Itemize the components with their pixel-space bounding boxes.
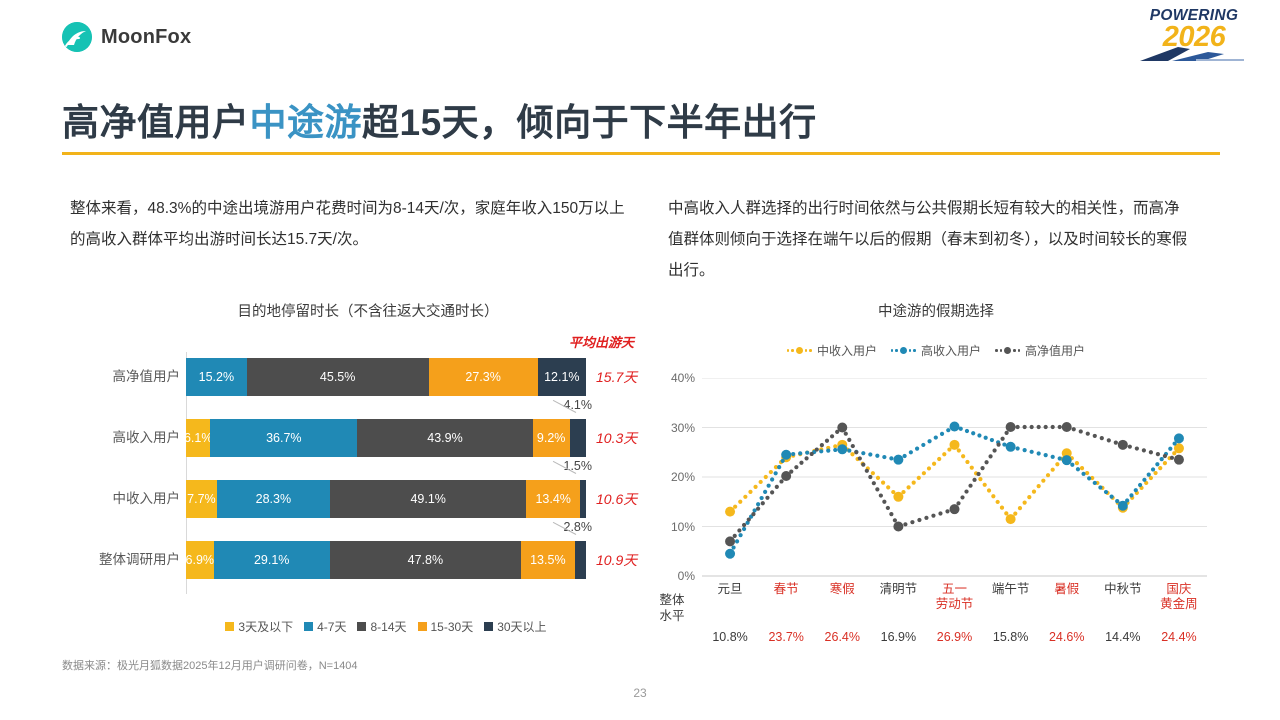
series-dot: [861, 451, 865, 455]
series-marker: [950, 440, 960, 450]
series-dot: [1149, 450, 1153, 454]
stay-duration-chart: 目的地停留时长（不含往返大交通时长） 平均出游天 高净值用户15.2%45.5%…: [58, 300, 638, 650]
series-dot: [774, 471, 778, 475]
series-dot: [882, 500, 886, 504]
series-dot: [903, 454, 907, 458]
series-dot: [886, 485, 890, 489]
series-dot: [1032, 490, 1036, 494]
overall-level-value: 15.8%: [983, 630, 1039, 644]
series-dot: [1080, 466, 1084, 470]
series-dot: [924, 516, 928, 520]
series-dot: [881, 481, 885, 485]
y-axis-tick-label: 40%: [671, 371, 695, 385]
series-dot: [851, 444, 855, 448]
series-dot: [847, 448, 851, 452]
series-dot: [1075, 461, 1079, 465]
legend-dotted-line-icon: [891, 347, 916, 354]
series-dot: [799, 461, 803, 465]
series-dot: [903, 522, 907, 526]
series-dot: [794, 465, 798, 469]
series-dot: [1156, 452, 1160, 456]
series-dot: [968, 484, 972, 488]
bar-segment-callout: 1.5%: [564, 459, 593, 473]
bar-segment: 6.1%: [186, 419, 210, 457]
right-paragraph: 中高收入人群选择的出行时间依然与公共假期长短有较大的相关性，而高净值群体则倾向于…: [668, 193, 1188, 286]
series-dot: [820, 443, 824, 447]
data-source-note: 数据来源：极光月狐数据2025年12月用户调研问卷，N=1404: [62, 657, 358, 673]
series-dot: [760, 496, 764, 500]
overall-level-label: 整体 水平: [648, 592, 696, 624]
series-dot: [1023, 448, 1027, 452]
overall-level-value: 14.4%: [1095, 630, 1151, 644]
series-marker: [893, 455, 903, 465]
series-marker: [781, 450, 791, 460]
bar-segment: [580, 480, 586, 518]
series-dot: [893, 518, 897, 522]
series-dot: [1093, 434, 1097, 438]
series-dot: [767, 484, 771, 488]
powering-2026-badge: POWERING 2026: [1136, 8, 1252, 60]
series-dot: [833, 448, 837, 452]
series-dot: [886, 506, 890, 510]
legend-item-label: 高净值用户: [1025, 342, 1085, 359]
series-dot: [984, 436, 988, 440]
x-axis-tick-label: 五一劳动节: [926, 582, 982, 612]
left-paragraph: 整体来看，48.3%的中途出境游用户花费时间为8-14天/次，家庭年收入150万…: [70, 193, 630, 255]
legend-item[interactable]: 3天及以下: [225, 618, 293, 635]
series-dot: [810, 452, 814, 456]
legend-item[interactable]: 4-7天: [304, 618, 346, 635]
series-dot: [1115, 499, 1119, 503]
series-dot: [1093, 481, 1097, 485]
series-dot: [738, 533, 742, 537]
series-dot: [942, 452, 946, 456]
x-axis-tick-label: 寒假: [814, 582, 870, 612]
legend-swatch-icon: [418, 622, 427, 631]
series-dot: [1030, 450, 1034, 454]
series-dot: [1046, 473, 1050, 477]
x-axis-tick-label: 春节: [758, 582, 814, 612]
series-dot: [759, 480, 763, 484]
series-dot: [819, 449, 823, 453]
series-dot: [1160, 457, 1164, 461]
average-days-value: 10.9天: [596, 541, 637, 579]
bar-segment: 27.3%: [429, 358, 538, 396]
series-dot: [777, 465, 781, 469]
bar-segment: 49.1%: [330, 480, 526, 518]
bar-track: 15.2%45.5%27.3%12.1%: [186, 358, 586, 396]
bar-row: 高收入用户6.1%36.7%43.9%9.2%4.1%10.3天: [186, 419, 586, 457]
series-dot: [927, 466, 931, 470]
holiday-choice-chart-title: 中途游的假期选择: [646, 300, 1226, 321]
series-dot: [927, 439, 931, 443]
legend-item-label: 30天以上: [497, 618, 546, 635]
series-dot: [868, 452, 872, 456]
series-dot: [1081, 472, 1085, 476]
series-dot: [747, 517, 751, 521]
legend-dotted-line-icon: [787, 347, 812, 354]
series-dot: [946, 428, 950, 432]
series-dot: [1076, 467, 1080, 471]
series-dot: [1142, 448, 1146, 452]
series-marker: [1062, 455, 1072, 465]
series-marker: [1006, 442, 1016, 452]
overall-level-value: 24.6%: [1039, 630, 1095, 644]
series-dot: [1044, 453, 1048, 457]
series-dot: [912, 481, 916, 485]
series-dot: [921, 443, 925, 447]
series-dot: [957, 448, 961, 452]
average-days-header: 平均出游天: [569, 332, 634, 351]
series-dot: [1151, 467, 1155, 471]
line-plot-area: 0%10%20%30%40%: [702, 378, 1207, 576]
series-dot: [984, 460, 988, 464]
series-dot: [991, 494, 995, 498]
series-dot: [987, 488, 991, 492]
series-dot: [815, 447, 819, 451]
series-dot: [805, 451, 809, 455]
series-dot: [992, 448, 996, 452]
bar-row: 中收入用户7.7%28.3%49.1%13.4%1.5%10.6天: [186, 480, 586, 518]
series-dot: [1016, 425, 1020, 429]
series-dot: [1107, 438, 1111, 442]
series-dot: [1058, 425, 1062, 429]
average-days-value: 10.3天: [596, 419, 637, 457]
series-dot: [1023, 425, 1027, 429]
bar-segment: 13.5%: [521, 541, 575, 579]
series-marker: [1006, 514, 1016, 524]
series-dot: [910, 520, 914, 524]
average-days-value: 15.7天: [596, 358, 637, 396]
series-marker: [725, 536, 735, 546]
bar-segment: 47.8%: [330, 541, 521, 579]
series-dot: [763, 490, 767, 494]
x-axis-tick-label: 端午节: [983, 582, 1039, 612]
series-dot: [798, 451, 802, 455]
overall-level-line2: 水平: [659, 609, 684, 623]
legend-item[interactable]: 30天以上: [484, 618, 546, 635]
x-axis-tick-label: 中秋节: [1095, 582, 1151, 612]
series-dot: [996, 500, 1000, 504]
series-dot: [970, 466, 974, 470]
series-dot: [1037, 451, 1041, 455]
series-dot: [1168, 447, 1172, 451]
bar-row-label: 高收入用户: [113, 419, 181, 457]
average-days-value: 10.6天: [596, 480, 637, 518]
legend-item-label: 中收入用户: [817, 342, 877, 359]
series-dot: [850, 452, 854, 456]
series-marker: [950, 504, 960, 514]
legend-swatch-icon: [225, 622, 234, 631]
series-dot: [1037, 425, 1041, 429]
legend-item-label: 8-14天: [370, 618, 406, 635]
series-dot: [1114, 440, 1118, 444]
bar-segment: 28.3%: [217, 480, 330, 518]
series-dot: [770, 477, 774, 481]
bar-track: 6.9%29.1%47.8%13.5%: [186, 541, 586, 579]
series-dot: [961, 454, 965, 458]
overall-level-value: 24.4%: [1151, 630, 1207, 644]
series-dot: [775, 485, 779, 489]
holiday-axis-labels: 元旦春节寒假清明节五一劳动节端午节暑假中秋节国庆黄金周: [702, 582, 1207, 612]
series-dot: [1051, 455, 1055, 459]
series-dot: [983, 483, 987, 487]
series-dot: [830, 434, 834, 438]
series-dot: [733, 505, 737, 509]
line-chart-svg: [702, 378, 1207, 580]
bar-row-label: 高净值用户: [113, 358, 181, 396]
series-dot: [1072, 427, 1076, 431]
slide: MoonFox POWERING 2026 高净值用户中途游超15天，倾向于下半…: [0, 0, 1280, 720]
overall-level-value: 23.7%: [758, 630, 814, 644]
bar-row-label: 整体调研用户: [99, 541, 180, 579]
title-divider: [62, 152, 1220, 155]
series-dot: [756, 502, 760, 506]
series-dot: [872, 481, 876, 485]
overall-level-value: 10.8%: [702, 630, 758, 644]
series-dot: [1158, 466, 1162, 470]
series-dot: [1037, 484, 1041, 488]
series-dot: [731, 545, 735, 549]
series-dot: [1170, 456, 1174, 460]
series-dot: [956, 501, 960, 505]
bar-segment: [575, 541, 586, 579]
series-dot: [1110, 495, 1114, 499]
series-dot: [847, 438, 851, 442]
series-dot: [1000, 437, 1004, 441]
series-dot: [1051, 425, 1055, 429]
series-dot: [906, 485, 910, 489]
series-dot: [770, 490, 774, 494]
series-dot: [765, 496, 769, 500]
series-dot: [980, 466, 984, 470]
series-dot: [804, 456, 808, 460]
series-marker: [837, 444, 847, 454]
series-dot: [876, 476, 880, 480]
bar-row: 高净值用户15.2%45.5%27.3%12.1%15.7天: [186, 358, 586, 396]
overall-level-value: 26.4%: [814, 630, 870, 644]
bar-segment: 43.9%: [357, 419, 533, 457]
series-dot: [1013, 511, 1017, 515]
series-dot: [922, 471, 926, 475]
series-dot: [764, 475, 768, 479]
series-dot: [761, 501, 765, 505]
bar-segment: 7.7%: [186, 480, 217, 518]
series-dot: [1098, 485, 1102, 489]
series-dot: [733, 534, 737, 538]
series-marker: [1174, 455, 1184, 465]
series-dot: [976, 472, 980, 476]
series-dot: [779, 479, 783, 483]
series-dot: [1000, 506, 1004, 510]
series-dot: [1079, 429, 1083, 433]
series-dot: [1051, 468, 1055, 472]
legend-item-label: 4-7天: [317, 618, 346, 635]
bar-row: 整体调研用户6.9%29.1%47.8%13.5%2.8%10.9天: [186, 541, 586, 579]
y-axis-tick-label: 30%: [671, 421, 695, 435]
legend-swatch-icon: [304, 622, 313, 631]
brand-name: MoonFox: [101, 26, 191, 49]
page-title-part2: 超15天，倾向于下半年出行: [362, 102, 817, 143]
series-dot: [825, 439, 829, 443]
bar-segment: 13.4%: [526, 480, 580, 518]
series-dot: [915, 447, 919, 451]
legend-item[interactable]: 15-30天: [418, 618, 474, 635]
series-dot: [1086, 432, 1090, 436]
page-title-highlight: 中途游: [250, 102, 363, 143]
series-dot: [1135, 446, 1139, 450]
series-dot: [833, 444, 837, 448]
series-marker: [781, 471, 791, 481]
series-dot: [742, 523, 746, 527]
holiday-choice-legend: 中收入用户高收入用户高净值用户: [646, 342, 1226, 359]
series-dot: [756, 507, 760, 511]
bar-segment-callout: 2.8%: [564, 520, 593, 534]
overall-level-value: 16.9%: [870, 630, 926, 644]
page-number: 23: [0, 686, 1280, 700]
bar-track: 6.1%36.7%43.9%9.2%: [186, 419, 586, 457]
bar-row-label: 中收入用户: [113, 480, 181, 518]
series-dot: [1055, 462, 1059, 466]
brand-logo: MoonFox: [62, 22, 191, 52]
series-dot: [751, 512, 755, 516]
series-dot: [1044, 425, 1048, 429]
legend-item-label: 3天及以下: [238, 618, 293, 635]
airplane-icon: [1138, 41, 1250, 63]
series-dot: [988, 454, 992, 458]
series-dot: [826, 449, 830, 453]
legend-item[interactable]: 中收入用户: [787, 342, 877, 359]
series-dot: [978, 477, 982, 481]
series-dot: [1104, 490, 1108, 494]
series-dot: [748, 490, 752, 494]
series-dot: [781, 459, 785, 463]
series-marker: [725, 507, 735, 517]
bar-segment: 9.2%: [533, 419, 570, 457]
series-dot: [875, 487, 879, 491]
series-marker: [1118, 440, 1128, 450]
x-axis-tick-label: 国庆黄金周: [1151, 582, 1207, 612]
series-dot: [965, 429, 969, 433]
series-dot: [1016, 446, 1020, 450]
series-dot: [996, 443, 1000, 447]
stay-duration-chart-title: 目的地停留时长（不含往返大交通时长）: [98, 300, 638, 321]
y-axis-tick-label: 10%: [671, 520, 695, 534]
series-dot: [861, 463, 865, 467]
series-dot: [1163, 461, 1167, 465]
series-dot: [1027, 495, 1031, 499]
page-title-part1: 高净值用户: [62, 102, 250, 143]
series-dot: [940, 432, 944, 436]
overall-level-line1: 整体: [659, 593, 684, 607]
series-dot: [1085, 471, 1089, 475]
series-dot: [909, 450, 913, 454]
holiday-choice-chart: 中途游的假期选择 中收入用户高收入用户高净值用户 0%10%20%30%40% …: [646, 300, 1226, 650]
legend-item[interactable]: 高净值用户: [995, 342, 1085, 359]
series-marker: [1006, 422, 1016, 432]
series-dot: [889, 456, 893, 460]
legend-swatch-icon: [357, 622, 366, 631]
bar-segment: 36.7%: [210, 419, 357, 457]
x-axis-tick-label: 清明节: [870, 582, 926, 612]
series-dot: [1070, 463, 1074, 467]
series-dot: [889, 512, 893, 516]
series-dot: [1087, 476, 1091, 480]
series-dot: [972, 478, 976, 482]
series-dot: [882, 455, 886, 459]
series-dot: [1129, 493, 1133, 497]
bar-segment: 29.1%: [214, 541, 330, 579]
series-dot: [865, 469, 869, 473]
series-dot: [945, 509, 949, 513]
y-axis-tick-label: 20%: [671, 470, 695, 484]
series-dot: [1153, 471, 1157, 475]
series-dot: [1004, 511, 1008, 515]
series-dot: [1147, 473, 1151, 477]
series-dot: [858, 456, 862, 460]
series-dot: [938, 511, 942, 515]
bar-segment: 45.5%: [247, 358, 429, 396]
series-dot: [753, 485, 757, 489]
series-dot: [844, 432, 848, 436]
series-dot: [854, 450, 858, 454]
x-axis-tick-label: 元旦: [702, 582, 758, 612]
legend-item[interactable]: 8-14天: [357, 618, 406, 635]
stacked-bar-group: 高净值用户15.2%45.5%27.3%12.1%15.7天高收入用户6.1%3…: [186, 358, 586, 602]
series-dot: [931, 514, 935, 518]
series-dot: [737, 528, 741, 532]
series-marker: [950, 422, 960, 432]
series-dot: [971, 431, 975, 435]
legend-item-label: 15-30天: [431, 618, 474, 635]
series-dot: [1142, 478, 1146, 482]
bar-segment: 12.1%: [538, 358, 586, 396]
stay-duration-legend: 3天及以下4-7天8-14天15-30天30天以上: [186, 618, 586, 635]
legend-item-label: 高收入用户: [921, 342, 981, 359]
series-dot: [917, 476, 921, 480]
series-dot: [1058, 456, 1062, 460]
series-dot: [743, 495, 747, 499]
series-dot: [1018, 506, 1022, 510]
series-dot: [868, 475, 872, 479]
series-dot: [1138, 483, 1142, 487]
legend-dotted-line-icon: [995, 347, 1020, 354]
series-dot: [738, 500, 742, 504]
series-dot: [934, 435, 938, 439]
series-dot: [879, 493, 883, 497]
series-dot: [1128, 445, 1132, 449]
series-dot: [917, 518, 921, 522]
series-dot: [1023, 501, 1027, 505]
moonfox-circle-icon: [62, 22, 92, 52]
series-dot: [937, 457, 941, 461]
series-dot: [932, 462, 936, 466]
page-title: 高净值用户中途游超15天，倾向于下半年出行: [62, 92, 817, 146]
series-dot: [742, 527, 746, 531]
overall-level-values: 10.8%23.7%26.4%16.9%26.9%15.8%24.6%14.4%…: [702, 630, 1207, 644]
series-dot: [1134, 488, 1138, 492]
x-axis-tick-label: 暑假: [1039, 582, 1095, 612]
overall-level-value: 26.9%: [926, 630, 982, 644]
series-dot: [1155, 462, 1159, 466]
series-dot: [960, 495, 964, 499]
series-dot: [964, 489, 968, 493]
series-marker: [893, 492, 903, 502]
series-marker: [1118, 501, 1128, 511]
bar-track: 7.7%28.3%49.1%13.4%: [186, 480, 586, 518]
series-dot: [875, 454, 879, 458]
legend-item[interactable]: 高收入用户: [891, 342, 981, 359]
